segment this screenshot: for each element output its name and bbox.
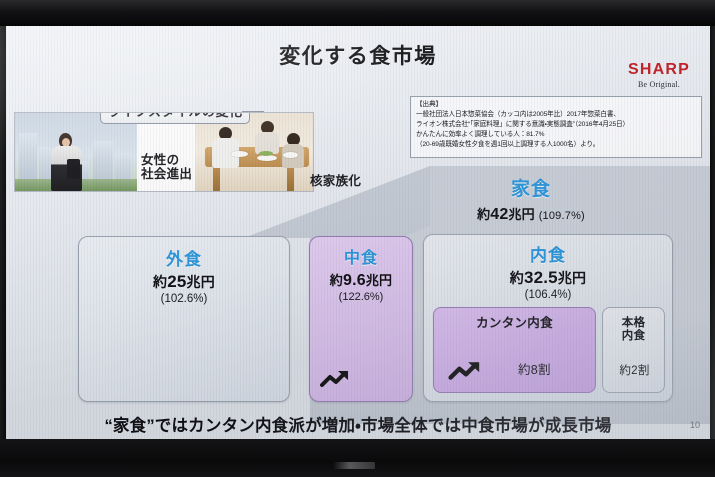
card-naishoku-value-number: 32.5 (524, 268, 558, 287)
monitor-bezel-bottom (0, 439, 715, 477)
card-gaishoku-title: 外食 (79, 245, 289, 270)
card-gaishoku-value-prefix: 約 (153, 274, 167, 290)
card-naishoku-value: 約32.5兆円 (424, 268, 672, 288)
card-nakashoku-title: 中食 (310, 244, 412, 268)
presentation-slide: 変化する食市場 SHARP Be Original. 【出典】 一般社団法人日本… (6, 26, 710, 439)
card-naishoku-value-prefix: 約 (510, 270, 524, 286)
card-naishoku-percent: (106.4%) (424, 289, 672, 301)
card-nakashoku-value-unit: 兆円 (366, 273, 392, 288)
trending-up-icon (320, 369, 352, 389)
monitor-bezel-right (710, 26, 715, 439)
monitor-brand-logo (333, 462, 375, 469)
card-gaishoku-value: 約25兆円 (79, 272, 289, 292)
card-naishoku-value-unit: 兆円 (558, 270, 586, 286)
trending-up-icon (448, 360, 484, 382)
lifestyle-connector-line (242, 111, 264, 112)
lifestyle-caption-nuclear-family: 核家族化 (310, 174, 361, 188)
card-gaishoku-percent: (102.6%) (79, 293, 289, 305)
subcard-honkaku-title: 本格 内食 (603, 317, 664, 343)
subcard-kantan-naishoku[interactable]: カンタン内食 約8割 (433, 307, 596, 393)
card-nakashoku-value-number: 9.6 (343, 272, 366, 289)
card-gaishoku[interactable]: 外食 約25兆円 (102.6%) (78, 236, 290, 402)
bottom-caption: “家食”ではカンタン内食派が増加・市場全体では中食市場が成長市場 (6, 412, 710, 436)
subcard-kantan-title: カンタン内食 (434, 316, 595, 330)
monitor-photo: 変化する食市場 SHARP Be Original. 【出典】 一般社団法人日本… (0, 0, 715, 477)
card-nakashoku-value: 約9.6兆円 (310, 270, 412, 290)
card-gaishoku-value-number: 25 (167, 272, 186, 291)
card-naishoku[interactable]: 内食 約32.5兆円 (106.4%) カンタン内食 約8割 本格 内食 約2割 (423, 234, 673, 402)
monitor-bezel-top (0, 0, 715, 26)
market-cards-row: 外食 約25兆円 (102.6%) 中食 約9.6兆円 (122.6%) 内食 … (6, 26, 710, 439)
subcard-honkaku-naishoku[interactable]: 本格 内食 約2割 (602, 307, 665, 393)
subcard-kantan-share: 約8割 (518, 359, 551, 378)
page-number: 10 (690, 420, 700, 430)
subcard-honkaku-share: 約2割 (603, 362, 666, 378)
card-nakashoku-percent: (122.6%) (310, 291, 412, 303)
card-naishoku-title: 内食 (424, 241, 672, 266)
card-nakashoku[interactable]: 中食 約9.6兆円 (122.6%) (309, 236, 413, 402)
card-gaishoku-value-unit: 兆円 (187, 274, 215, 290)
card-nakashoku-value-prefix: 約 (330, 273, 343, 288)
